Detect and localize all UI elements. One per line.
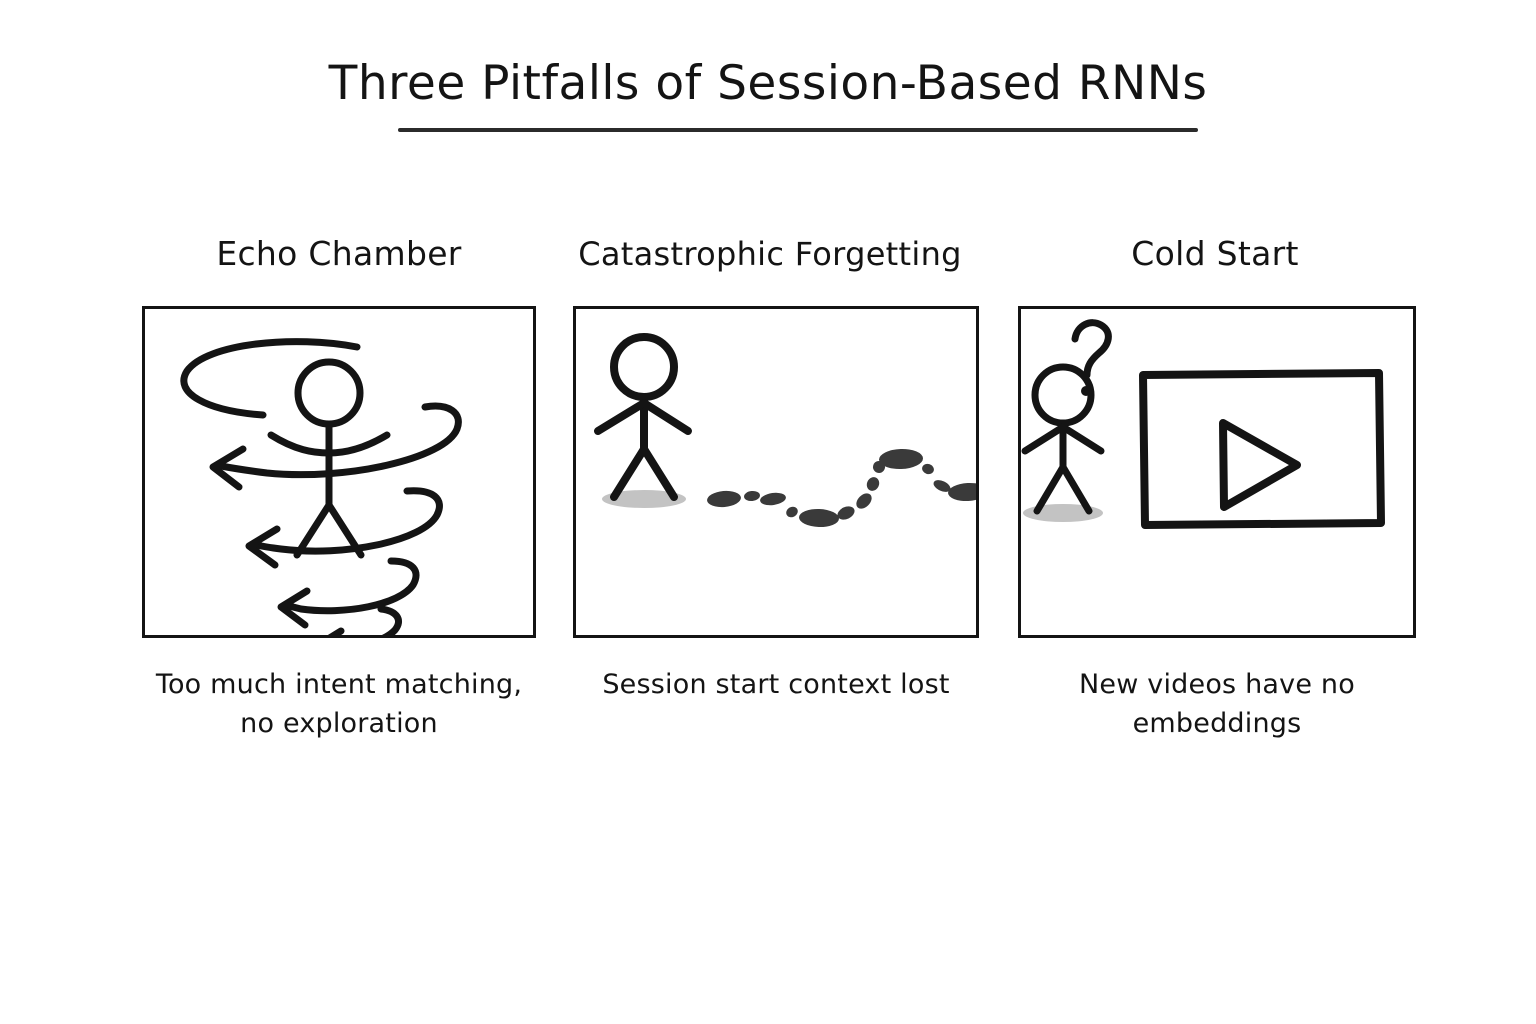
panel-frame-echo-chamber <box>142 306 536 638</box>
cold-start-illustration <box>1021 309 1413 635</box>
panel-frame-catastrophic-forgetting <box>573 306 979 638</box>
memory-trail <box>706 448 976 527</box>
panel-frame-cold-start <box>1018 306 1416 638</box>
panel-caption-catastrophic-forgetting: Session start context lost <box>573 665 979 704</box>
caption-line: New videos have no <box>1030 665 1404 704</box>
trail-dot <box>784 505 799 520</box>
trail-dot <box>706 490 741 509</box>
stick-figure-echo-chamber <box>271 362 387 555</box>
panels-row: Echo Chamber <box>0 228 1536 788</box>
catastrophic-forgetting-illustration <box>576 309 976 635</box>
page-title-block: Three Pitfalls of Session-Based RNNs <box>0 58 1536 111</box>
trail-dot <box>879 448 924 470</box>
caption-line: embeddings <box>1030 704 1404 743</box>
stick-figure-forgetting <box>598 337 688 497</box>
echo-chamber-illustration <box>145 309 533 635</box>
caption-line: Session start context lost <box>573 665 979 704</box>
trail-dot <box>799 508 840 527</box>
trail-dot <box>744 490 761 502</box>
panel-heading-cold-start: Cold Start <box>1018 228 1412 280</box>
trail-dot <box>865 475 882 493</box>
panel-caption-cold-start: New videos have no embeddings <box>1018 665 1416 743</box>
panel-heading-catastrophic-forgetting: Catastrophic Forgetting <box>573 228 967 280</box>
page-title: Three Pitfalls of Session-Based RNNs <box>329 58 1208 111</box>
panel-cold-start: Cold Start <box>1018 228 1412 743</box>
panel-catastrophic-forgetting: Catastrophic Forgetting <box>573 228 967 704</box>
caption-line: no exploration <box>142 704 536 743</box>
panel-heading-echo-chamber: Echo Chamber <box>142 228 536 280</box>
spiral-arc-2 <box>213 406 458 487</box>
panel-echo-chamber: Echo Chamber <box>142 228 536 743</box>
trail-dot <box>921 462 936 476</box>
trail-dot <box>759 491 786 507</box>
trail-dot <box>853 490 874 511</box>
play-triangle-icon <box>1223 423 1297 507</box>
panel-caption-echo-chamber: Too much intent matching, no exploration <box>142 665 536 743</box>
caption-line: Too much intent matching, <box>142 665 536 704</box>
stick-figure-cold-start <box>1025 367 1101 511</box>
title-underline <box>398 128 1198 132</box>
trail-dot <box>948 482 976 502</box>
video-player-icon[interactable] <box>1143 373 1381 525</box>
spiral-arc-1 <box>184 342 357 415</box>
